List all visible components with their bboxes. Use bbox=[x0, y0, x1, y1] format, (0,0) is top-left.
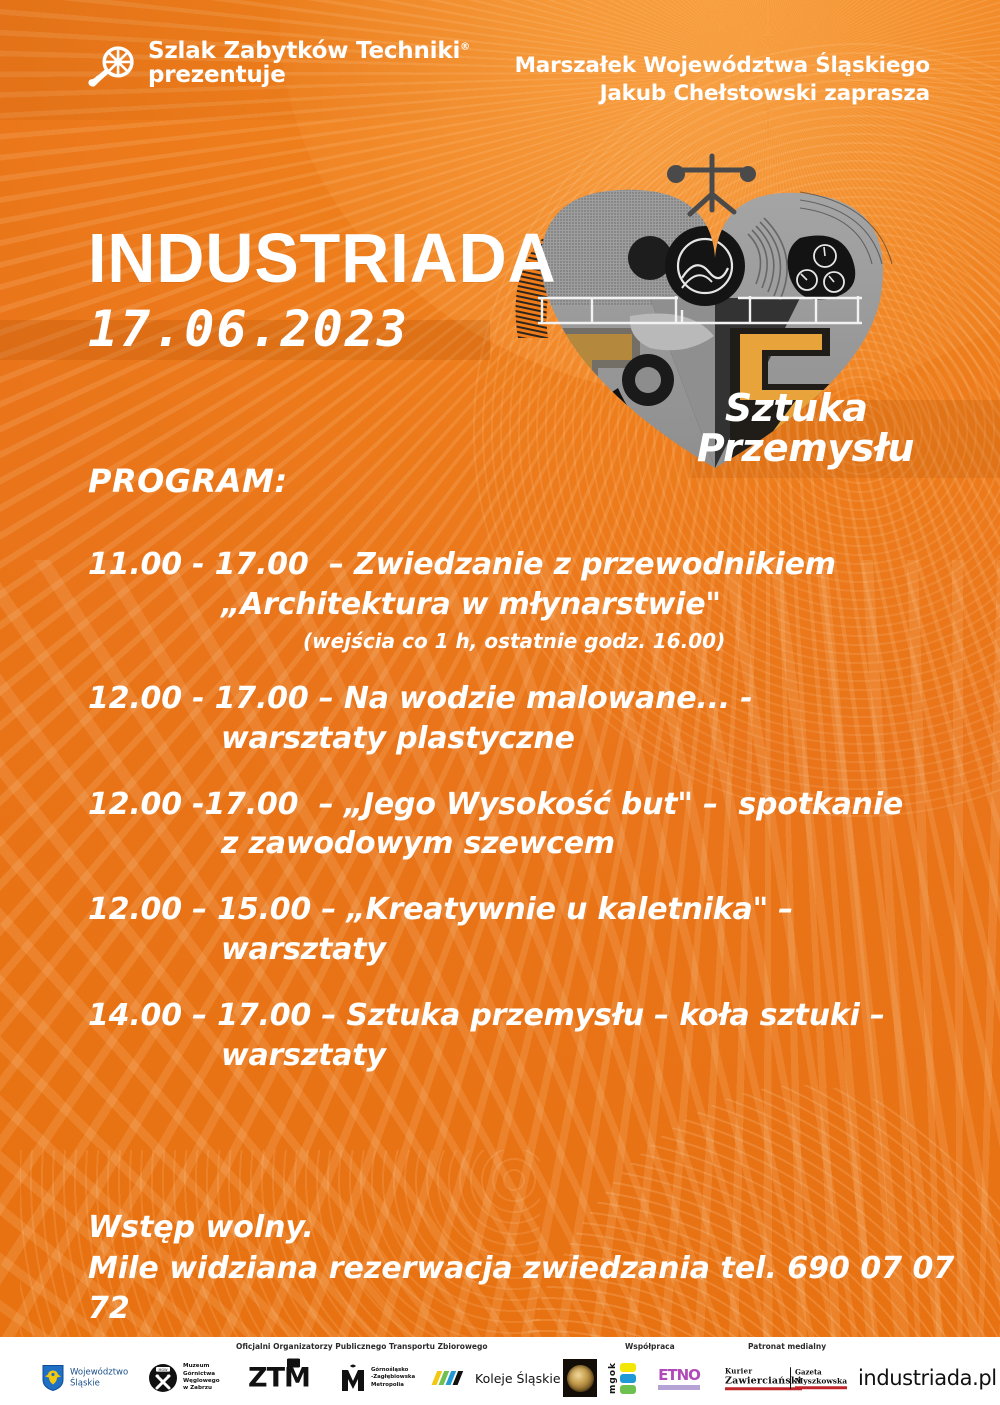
etno-underline bbox=[658, 1385, 700, 1390]
wojewodztwo-line-1: Województwo bbox=[70, 1367, 128, 1378]
logo-etno[interactable]: ETNO bbox=[658, 1366, 700, 1390]
logo-muzeum-gornictwa-weglowego[interactable]: MGW Muzeum Górnictwa Węglowego w Zabrzu bbox=[148, 1363, 220, 1393]
label-media-patronage: Patronat medialny bbox=[748, 1342, 826, 1351]
koleje-slaskie-text: Koleje Śląskie bbox=[475, 1371, 561, 1386]
balance-weight-left bbox=[667, 165, 685, 183]
marshal-line-2: Jakub Chełstowski zaprasza bbox=[515, 80, 930, 108]
label-cooperation: Współpraca bbox=[625, 1342, 675, 1351]
marshal-invitation: Marszałek Województwa Śląskiego Jakub Ch… bbox=[515, 52, 930, 107]
silesian-coat-of-arms-icon bbox=[42, 1365, 64, 1392]
ztm-text: ZT bbox=[248, 1363, 284, 1394]
program-item-line-1: 11.00 - 17.00 – Zwiedzanie z przewodniki… bbox=[88, 545, 958, 585]
poster-header: Szlak Zabytków Techniki® prezentuje Mars… bbox=[0, 0, 1000, 130]
theme-line-1: Sztuka bbox=[725, 388, 914, 428]
theme-title: Sztuka Przemysłu bbox=[725, 388, 914, 469]
label-transport-organizers: Oficjalni Organizatorzy Publicznego Tran… bbox=[236, 1342, 488, 1351]
program-item-line-1: 12.00 – 15.00 – „Kreatywnie u kaletnika"… bbox=[88, 890, 958, 930]
mining-museum-icon: MGW bbox=[148, 1363, 178, 1393]
wojewodztwo-line-2: Śląskie bbox=[70, 1378, 128, 1389]
muzeum-line-4: w Zabrzu bbox=[183, 1385, 220, 1392]
theme-line-2: Przemysłu bbox=[697, 428, 914, 468]
logo-line1: Szlak Zabytków Techniki bbox=[148, 38, 460, 64]
program-item-line-1: 12.00 - 17.00 – Na wodzie malowane... - bbox=[88, 679, 958, 719]
program-item: 14.00 – 17.00 – Sztuka przemysłu – koła … bbox=[88, 996, 958, 1076]
ztm-m-with-heart: M bbox=[284, 1363, 310, 1394]
logo-partner-emblem[interactable] bbox=[563, 1359, 597, 1397]
mgok-color-blocks-icon bbox=[620, 1363, 636, 1394]
footer-logo-row: Województwo Śląskie MGW Muzeum Górnictwa… bbox=[0, 1353, 1000, 1403]
gzm-line-2: -Zagłębiowska bbox=[371, 1374, 415, 1381]
program-item: 11.00 - 17.00 – Zwiedzanie z przewodniki… bbox=[88, 545, 958, 653]
program-item: 12.00 - 17.00 – Na wodzie malowane... - … bbox=[88, 679, 958, 759]
marshal-line-1: Marszałek Województwa Śląskiego bbox=[515, 52, 930, 80]
program-item-line-1: 12.00 -17.00 – „Jego Wysokość but" – spo… bbox=[88, 785, 958, 825]
gzm-line-1: Górnośląsko bbox=[371, 1367, 415, 1374]
gazeta-underline bbox=[795, 1386, 847, 1389]
program-item: 12.00 – 15.00 – „Kreatywnie u kaletnika"… bbox=[88, 890, 958, 970]
free-entry-text: Wstęp wolny. bbox=[88, 1208, 1000, 1249]
koleje-slaskie-stripes-icon bbox=[428, 1369, 468, 1387]
gazeta-line-2: Myszkowska bbox=[795, 1376, 847, 1385]
program-item-line-2: „Architektura w młynarstwie" bbox=[88, 585, 958, 625]
logo-gzm-metropolia[interactable]: Górnośląsko -Zagłębiowska Metropolia bbox=[340, 1364, 415, 1392]
logo-gazeta-myszkowska[interactable]: Gazeta Myszkowska bbox=[790, 1367, 847, 1389]
gazeta-line-1: Gazeta bbox=[795, 1367, 847, 1376]
program-item: 12.00 -17.00 – „Jego Wysokość but" – spo… bbox=[88, 785, 958, 865]
logo-line2: prezentuje bbox=[148, 64, 470, 88]
program-heading: PROGRAM: bbox=[88, 462, 288, 500]
etno-text: ETNO bbox=[658, 1366, 700, 1384]
page-title: INDUSTRIADA bbox=[88, 218, 557, 298]
logo-trademark: ® bbox=[460, 41, 470, 52]
footer-logo-bar: Oficjalni Organizatorzy Publicznego Tran… bbox=[0, 1337, 1000, 1405]
logo-koleje-slaskie[interactable]: Koleje Śląskie bbox=[428, 1369, 561, 1387]
logo-wojewodztwo-slaskie[interactable]: Województwo Śląskie bbox=[42, 1365, 128, 1392]
gzm-line-3: Metropolia bbox=[371, 1382, 415, 1389]
mgok-text: mgok bbox=[608, 1362, 618, 1394]
gzm-mark-icon bbox=[340, 1364, 366, 1392]
balance-weight-right bbox=[740, 166, 756, 182]
golden-orb-icon bbox=[567, 1365, 594, 1392]
muzeum-line-3: Węglowego bbox=[183, 1378, 220, 1385]
website-link[interactable]: industriada.pl bbox=[858, 1366, 997, 1390]
program-item-line-2: z zawodowym szewcem bbox=[88, 824, 958, 864]
muzeum-line-1: Muzeum bbox=[183, 1363, 220, 1370]
program-item-line-2: warsztaty plastyczne bbox=[88, 719, 958, 759]
svg-text:MGW: MGW bbox=[159, 1368, 169, 1372]
industrial-wheel-icon bbox=[86, 42, 138, 94]
program-item-note: (wejścia co 1 h, ostatnie godz. 16.00) bbox=[88, 629, 958, 653]
program-item-line-2: warsztaty bbox=[88, 1036, 958, 1076]
poster-industriada: Szlak Zabytków Techniki® prezentuje Mars… bbox=[0, 0, 1000, 1405]
logo-mgok[interactable]: mgok bbox=[608, 1362, 636, 1394]
closing-info: Wstęp wolny. Mile widziana rezerwacja zw… bbox=[88, 1208, 1000, 1330]
reservation-phone-text: Mile widziana rezerwacja zwiedzania tel.… bbox=[88, 1249, 1000, 1330]
program-item-line-1: 14.00 – 17.00 – Sztuka przemysłu – koła … bbox=[88, 996, 958, 1036]
event-date: 17.06.2023 bbox=[88, 300, 409, 358]
muzeum-line-2: Górnictwa bbox=[183, 1371, 220, 1378]
program-item-line-2: warsztaty bbox=[88, 930, 958, 970]
logo-ztm[interactable]: ZTM bbox=[248, 1363, 310, 1394]
szlak-zabytkow-techniki-logo: Szlak Zabytków Techniki® prezentuje bbox=[86, 40, 470, 94]
program-list: 11.00 - 17.00 – Zwiedzanie z przewodniki… bbox=[88, 545, 958, 1102]
